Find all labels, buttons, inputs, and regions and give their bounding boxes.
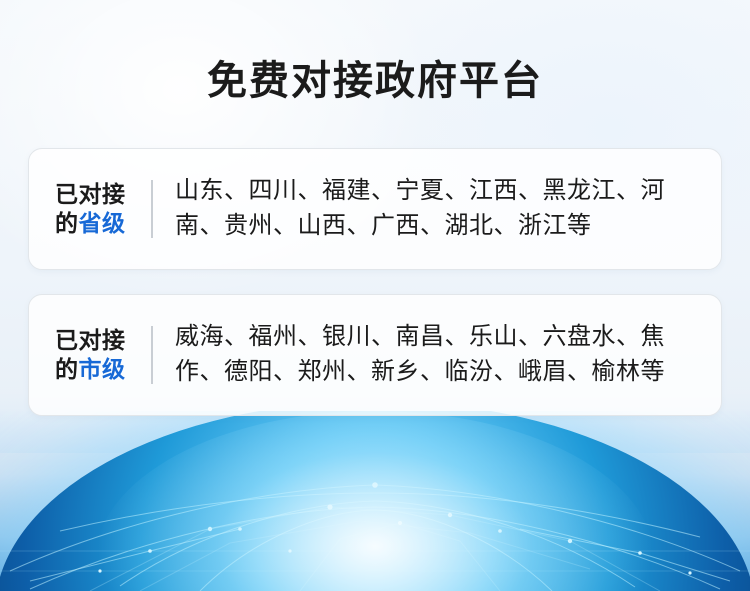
network-lines-icon: [0, 411, 750, 591]
page-title: 免费对接政府平台: [0, 48, 750, 106]
globe-illustration: [0, 411, 750, 591]
card-province-text: 山东、四川、福建、宁夏、江西、黑龙江、河南、贵州、山西、广西、湖北、浙江等: [175, 174, 721, 244]
card-province-label-line2: 的省级: [55, 209, 151, 238]
card-city-divider: [151, 326, 153, 384]
card-city-level: 已对接 的市级 威海、福州、银川、南昌、乐山、六盘水、焦作、德阳、郑州、新乡、临…: [28, 294, 722, 416]
card-city-label-line1: 已对接: [55, 326, 151, 355]
card-city-label: 已对接 的市级: [29, 326, 151, 385]
card-city-label-line2: 的市级: [55, 355, 151, 384]
card-province-label-prefix: 的: [55, 210, 79, 236]
card-province-divider: [151, 180, 153, 238]
card-province-level: 已对接 的省级 山东、四川、福建、宁夏、江西、黑龙江、河南、贵州、山西、广西、湖…: [28, 148, 722, 270]
card-city-text: 威海、福州、银川、南昌、乐山、六盘水、焦作、德阳、郑州、新乡、临汾、峨眉、榆林等: [175, 320, 721, 390]
card-city-label-highlight: 市级: [79, 356, 126, 382]
card-province-label-highlight: 省级: [79, 210, 126, 236]
card-province-label: 已对接 的省级: [29, 180, 151, 239]
card-city-label-prefix: 的: [55, 356, 79, 382]
card-province-label-line1: 已对接: [55, 180, 151, 209]
promo-banner: 免费对接政府平台 已对接 的省级 山东、四川、福建、宁夏、江西、黑龙江、河南、贵…: [0, 0, 750, 591]
